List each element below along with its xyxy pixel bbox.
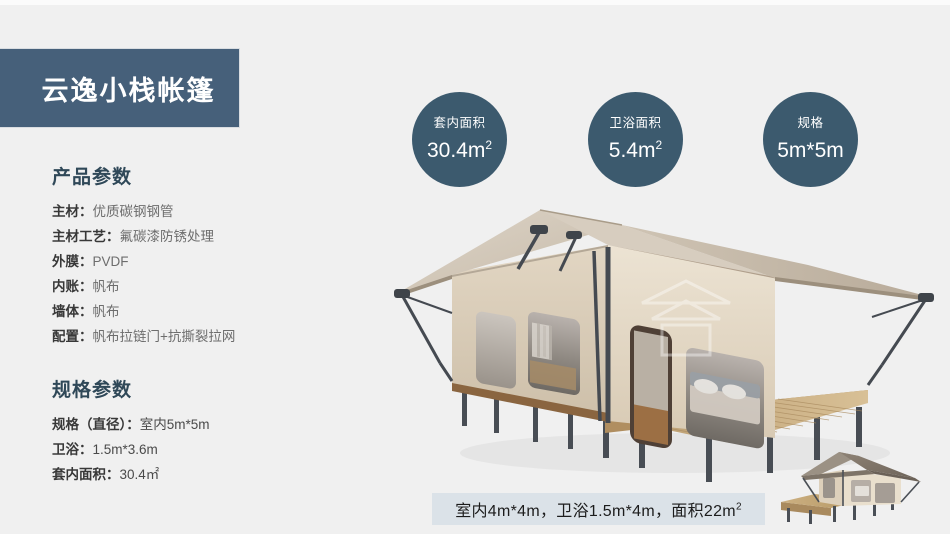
badge-label: 卫浴面积	[609, 116, 661, 131]
spec-row: 主材：优质碳钢钢管	[52, 199, 352, 224]
spec-row: 套内面积：30.4㎡	[52, 462, 352, 487]
tent-thumbnail	[775, 444, 935, 532]
spec-label: 墙体：	[52, 304, 93, 319]
spec-params-group: 规格参数 规格（直径）：室内5m*5m 卫浴：1.5m*3.6m 套内面积：30…	[52, 375, 352, 487]
spec-label: 外膜：	[52, 254, 93, 269]
spec-row: 配置：帆布拉链门+抗撕裂拉网	[52, 324, 352, 349]
product-title: 云逸小栈帐篷	[24, 69, 216, 108]
spec-value: 室内5m*5m	[140, 417, 210, 432]
spec-value: 1.5m*3.6m	[93, 442, 158, 457]
spec-row: 卫浴：1.5m*3.6m	[52, 437, 352, 462]
tent-thumbnail-svg	[775, 444, 935, 532]
product-params-heading: 产品参数	[52, 162, 352, 189]
badge-value: 5m*5m	[777, 132, 844, 164]
spec-label: 主材工艺：	[52, 229, 120, 244]
spec-label: 规格（直径）：	[52, 417, 140, 432]
spec-row: 墙体：帆布	[52, 299, 352, 324]
spec-value: 帆布	[93, 304, 120, 319]
spec-value: 优质碳钢钢管	[93, 204, 174, 219]
spec-row: 规格（直径）：室内5m*5m	[52, 412, 352, 437]
spec-label: 内账：	[52, 279, 93, 294]
title-banner: 云逸小栈帐篷	[0, 48, 240, 128]
spec-value: PVDF	[93, 254, 129, 269]
spec-label: 卫浴：	[52, 442, 93, 457]
spec-row: 外膜：PVDF	[52, 249, 352, 274]
metric-badge-interior-area: 套内面积 30.4m2	[412, 92, 507, 187]
tent-right-wall	[608, 245, 775, 450]
spec-value: 帆布	[93, 279, 120, 294]
spec-label: 配置：	[52, 329, 93, 344]
badge-label: 套内面积	[433, 116, 485, 131]
window-left-1	[476, 310, 516, 389]
metric-badge-dimensions: 规格 5m*5m	[763, 92, 858, 187]
spec-value: 氟碳漆防锈处理	[120, 229, 215, 244]
spec-params-heading: 规格参数	[52, 375, 352, 402]
specification-panel: 产品参数 主材：优质碳钢钢管 主材工艺：氟碳漆防锈处理 外膜：PVDF 内账：帆…	[52, 162, 352, 487]
spec-label: 套内面积：	[52, 467, 120, 482]
badge-label: 规格	[797, 116, 823, 131]
spec-row: 内账：帆布	[52, 274, 352, 299]
badge-value: 30.4m2	[427, 132, 492, 164]
thumb-window-right	[875, 483, 895, 503]
image-caption-bar: 室内4m*4m，卫浴1.5m*4m，面积22m2	[432, 493, 765, 525]
spec-label: 主材：	[52, 204, 93, 219]
product-params-list: 主材：优质碳钢钢管 主材工艺：氟碳漆防锈处理 外膜：PVDF 内账：帆布 墙体：…	[52, 199, 352, 349]
caption-text: 室内4m*4m，卫浴1.5m*4m，面积22m2	[455, 497, 742, 521]
spec-row: 主材工艺：氟碳漆防锈处理	[52, 224, 352, 249]
badge-value: 5.4m2	[609, 132, 662, 164]
spec-value: 帆布拉链门+抗撕裂拉网	[93, 329, 236, 344]
spec-params-list: 规格（直径）：室内5m*5m 卫浴：1.5m*3.6m 套内面积：30.4㎡	[52, 412, 352, 487]
thumb-interior-bed	[855, 486, 869, 496]
spec-value: 30.4㎡	[120, 467, 160, 482]
metric-badge-bathroom-area: 卫浴面积 5.4m2	[588, 92, 683, 187]
poster-canvas: 云逸小栈帐篷 产品参数 主材：优质碳钢钢管 主材工艺：氟碳漆防锈处理 外膜：PV…	[0, 0, 950, 534]
top-edge-strip	[0, 0, 950, 5]
thumb-window-left	[823, 478, 835, 498]
